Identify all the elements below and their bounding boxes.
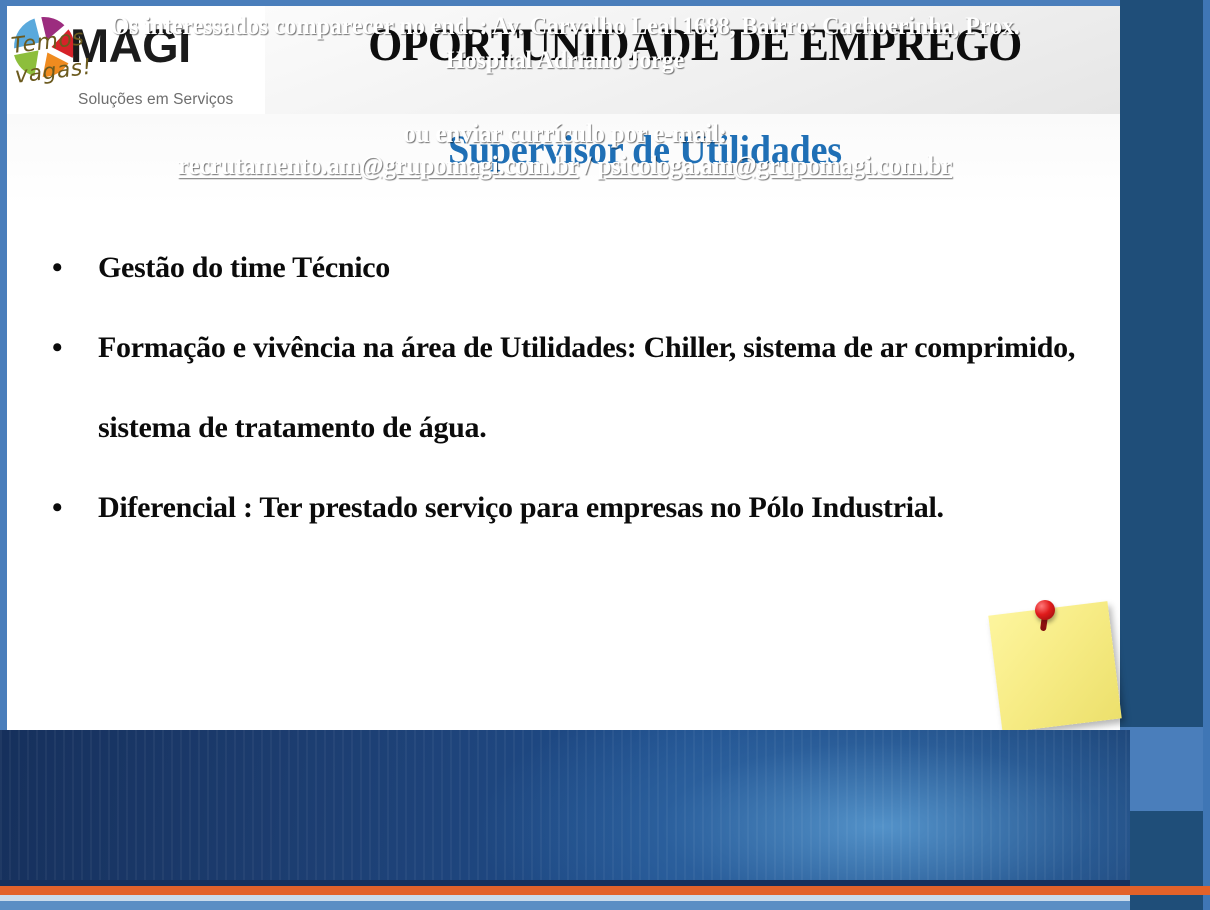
contact-line-1: Os interessados comparecer no end. : Av.…: [17, 10, 1113, 44]
bullet-icon: •: [52, 468, 62, 548]
bottom-stripe-blue: [0, 901, 1130, 910]
bottom-stripe-orange: [0, 886, 1130, 895]
email-instruction: ou enviar currículo por e-mail:: [17, 118, 1113, 150]
email-row: recrutamento.am@grupomagi.com.br / psico…: [17, 150, 1113, 182]
list-item: • Gestão do time Técnico: [40, 228, 1110, 308]
logo-tagline: Soluções em Serviços: [78, 92, 233, 108]
requirements-list: • Gestão do time Técnico • Formação e vi…: [40, 228, 1110, 548]
bullet-icon: •: [52, 228, 62, 308]
contact-line-2: Hospital Adriano Jorge: [17, 44, 1113, 78]
red-pushpin-icon: [1035, 600, 1055, 620]
list-item-label: Formação e vivência na área de Utilidade…: [98, 308, 1110, 468]
bullet-icon: •: [52, 308, 62, 388]
list-item-label: Diferencial : Ter prestado serviço para …: [98, 468, 1110, 548]
bottom-stripe-orange-right: [1120, 886, 1210, 895]
contact-email-block: ou enviar currículo por e-mail: recrutam…: [17, 118, 1113, 182]
list-item: • Formação e vivência na área de Utilida…: [40, 308, 1110, 468]
list-item: • Diferencial : Ter prestado serviço par…: [40, 468, 1110, 548]
contact-address-block: Os interessados comparecer no end. : Av.…: [17, 10, 1113, 78]
banner-texture: [0, 730, 1130, 886]
email-separator: /: [579, 151, 598, 180]
list-item-label: Gestão do time Técnico: [98, 228, 1110, 308]
right-panel-light-block: [1120, 727, 1210, 811]
contact-banner: [0, 730, 1130, 886]
job-posting-poster: MAGI Soluções em Serviços OPORTUNIDADE D…: [0, 0, 1210, 910]
sticky-note: [988, 601, 1121, 733]
email-link-psicologa[interactable]: psicologa.am@grupomagi.com.br: [597, 151, 952, 180]
right-panel-edge-stripe: [1203, 0, 1210, 910]
email-link-recrutamento[interactable]: recrutamento.am@grupomagi.com.br: [178, 151, 579, 180]
